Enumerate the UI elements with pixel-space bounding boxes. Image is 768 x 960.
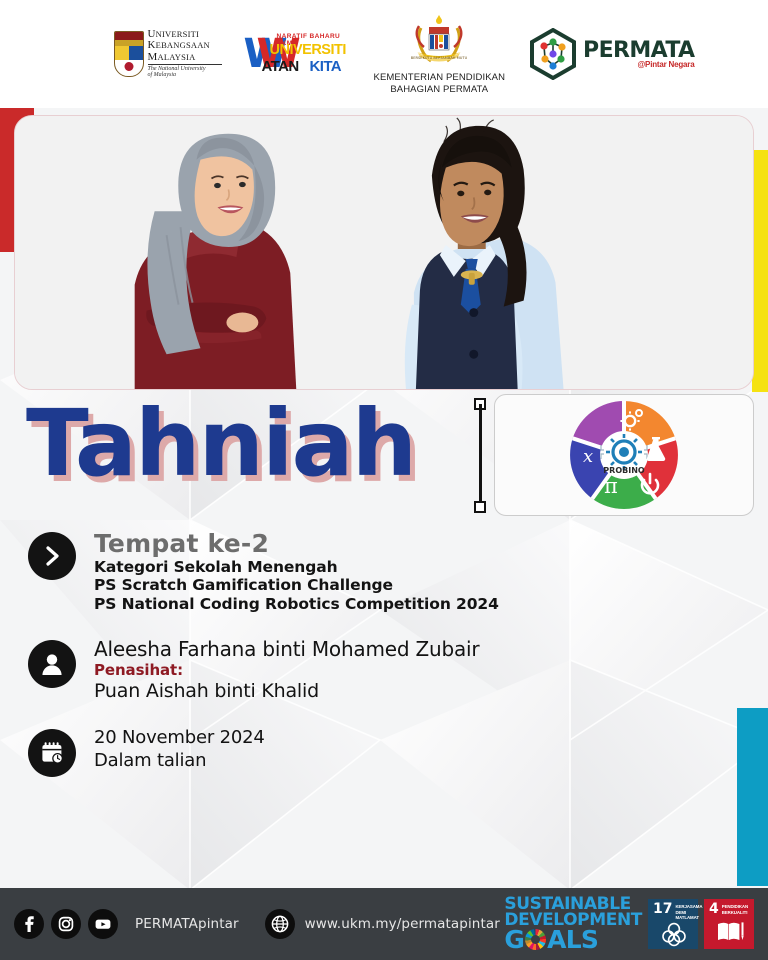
svg-text:π: π [604, 474, 618, 498]
globe-icon[interactable] [265, 909, 295, 939]
open-book-icon [709, 915, 750, 949]
sdg-wordmark: SUSTAINABLE DEVELOPMENT G ALS [504, 897, 642, 951]
facebook-icon[interactable] [14, 909, 44, 939]
sdg-color-wheel-icon [525, 929, 546, 950]
sdg-line-3-pre: G [504, 928, 524, 951]
ukm-sub-2: of Malaysia [148, 72, 222, 79]
event-row: 20 November 2024 Dalam talian [28, 725, 728, 777]
sdg-logos: SUSTAINABLE DEVELOPMENT G ALS 17 KERJASA… [504, 897, 754, 951]
sdg-line-3-post: ALS [547, 928, 598, 951]
sdg-line-3: G ALS [504, 928, 642, 951]
sdg-4-number: 4 [709, 903, 719, 915]
award-line-1: Kategori Sekolah Menengah [94, 558, 499, 577]
partnership-rings-icon [653, 921, 694, 950]
permata-wordmark: PERMATA [583, 40, 694, 62]
decor-block-yellow [752, 150, 768, 392]
sdg-tile-4: 4 PENDIDIKAN BERKUALITI [704, 899, 754, 949]
selection-handle-divider[interactable] [474, 398, 486, 513]
details-section: Tempat ke-2 Kategori Sekolah Menengah PS… [28, 528, 728, 777]
kementerian-pendidikan-logo: BERSEKUTU BERTAMBAH MUTU KEMENTERIAN PEN… [374, 12, 506, 96]
ukm-line-1: Universiti [148, 29, 222, 40]
permata-logo: PERMATA @Pintar Negara [527, 28, 694, 80]
kpm-line-1: KEMENTERIAN PENDIDIKAN [374, 72, 506, 84]
participant-row: Aleesha Farhana binti Mohamed Zubair Pen… [28, 636, 728, 703]
logo-header-bar: Universiti Kebangsaan Malaysia The Natio… [0, 0, 768, 108]
watan-kita: KITA [310, 58, 341, 75]
award-placement: Tempat ke-2 [94, 530, 499, 558]
ukm-shield-icon [114, 31, 144, 77]
award-line-2: PS Scratch Gamification Challenge [94, 576, 499, 595]
svg-text:BERSEKUTU BERTAMBAH MUTU: BERSEKUTU BERTAMBAH MUTU [411, 56, 468, 60]
poster-canvas: Universiti Kebangsaan Malaysia The Natio… [0, 0, 768, 960]
website-group: www.ukm.my/permatapintar [265, 909, 500, 939]
decor-block-teal [737, 708, 768, 886]
ukm-rule [148, 64, 222, 65]
kpm-line-2: BAHAGIAN PERMATA [374, 84, 506, 96]
event-date: 20 November 2024 [94, 727, 265, 750]
handle-bar [479, 404, 482, 507]
sdg-17-number: 17 [653, 903, 672, 915]
award-line-3: PS National Coding Robotics Competition … [94, 595, 499, 614]
youtube-icon[interactable] [88, 909, 118, 939]
website-url[interactable]: www.ukm.my/permatapintar [305, 916, 500, 932]
probino-logo-card: PROBINO [494, 394, 754, 516]
svg-text:x: x [583, 446, 593, 467]
award-row: Tempat ke-2 Kategori Sekolah Menengah PS… [28, 528, 728, 614]
instagram-icon[interactable] [51, 909, 81, 939]
sdg-tile-17: 17 KERJASAMA DEMI MATLAMAT [648, 899, 698, 949]
ukm-crest-logo: Universiti Kebangsaan Malaysia The Natio… [114, 29, 222, 79]
advisor-label: Penasihat: [94, 662, 479, 680]
permata-hex-icon [527, 28, 579, 80]
event-mode: Dalam talian [94, 750, 265, 773]
probino-wheel-icon: PROBINO [566, 397, 682, 513]
chevron-right-icon [28, 532, 76, 580]
social-handle: PERMATApintar [135, 916, 239, 932]
jata-negara-icon: BERSEKUTU BERTAMBAH MUTU [407, 12, 471, 70]
ukm-line-2: Kebangsaan [148, 40, 222, 51]
sdg-4-label: PENDIDIKAN BERKUALITI [722, 903, 750, 915]
hero-photo-card [14, 115, 754, 390]
footer-bar: PERMATApintar www.ukm.my/permatapintar S… [0, 888, 768, 960]
social-links: PERMATApintar [14, 909, 239, 939]
watan-kita-logo: W W NARATIF BAHARU UKM UNIVERSITI ATAN K… [244, 30, 352, 78]
page-title: Tahniah [26, 398, 415, 490]
ukm-line-3: Malaysia [148, 52, 222, 63]
participant-name: Aleesha Farhana binti Mohamed Zubair [94, 638, 479, 662]
watan-atan: ATAN [262, 58, 299, 75]
advisor-name: Puan Aishah binti Khalid [94, 680, 479, 704]
sdg-17-label: KERJASAMA DEMI MATLAMAT [675, 903, 702, 921]
watan-universiti: UNIVERSITI [270, 42, 346, 58]
handle-square-bottom[interactable] [474, 501, 486, 513]
calendar-clock-icon [28, 729, 76, 777]
person-icon [28, 640, 76, 688]
